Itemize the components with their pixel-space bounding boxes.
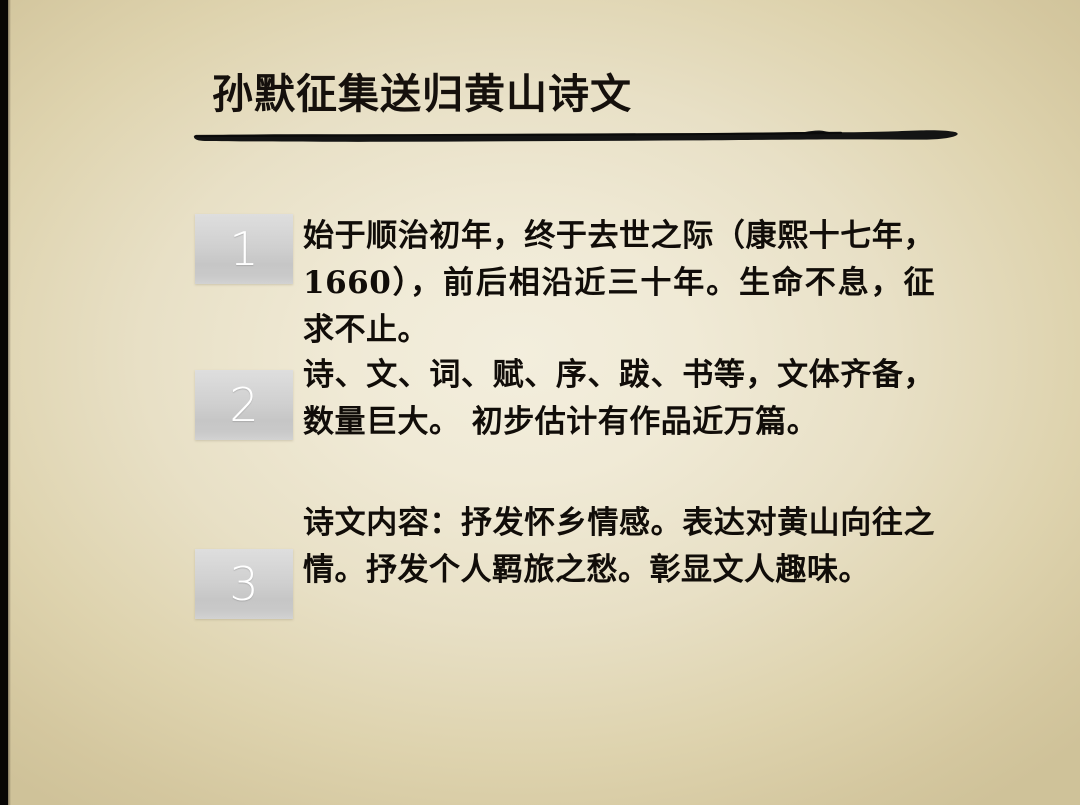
bullet-number-label: 2	[195, 370, 293, 440]
bullet-number-badge: 1	[195, 214, 293, 284]
bullet-number-badge: 2	[195, 370, 293, 440]
bullet-list: 1 始于顺治初年，终于去世之际（康熙十七年，1660），前后相沿近三十年。生命不…	[0, 0, 1080, 805]
slide-left-border	[0, 0, 8, 805]
bullet-text: 诗文内容：抒发怀乡情感。表达对黄山向往之情。抒发个人羁旅之愁。彰显文人趣味。	[303, 500, 935, 594]
bullet-number-label: 3	[195, 549, 293, 619]
bullet-text: 诗、文、词、赋、序、跋、书等，文体齐备，数量巨大。 初步估计有作品近万篇。	[303, 352, 935, 446]
slide-left-border-fade	[8, 0, 11, 805]
bullet-number-label: 1	[195, 214, 293, 284]
bullet-text: 始于顺治初年，终于去世之际（康熙十七年，1660），前后相沿近三十年。生命不息，…	[303, 213, 935, 354]
slide-canvas: 孙默征集送归黄山诗文 1 始于顺治初年，终于去世之际（康熙十七年，1660），前…	[0, 0, 1080, 805]
bullet-number-badge: 3	[195, 549, 293, 619]
